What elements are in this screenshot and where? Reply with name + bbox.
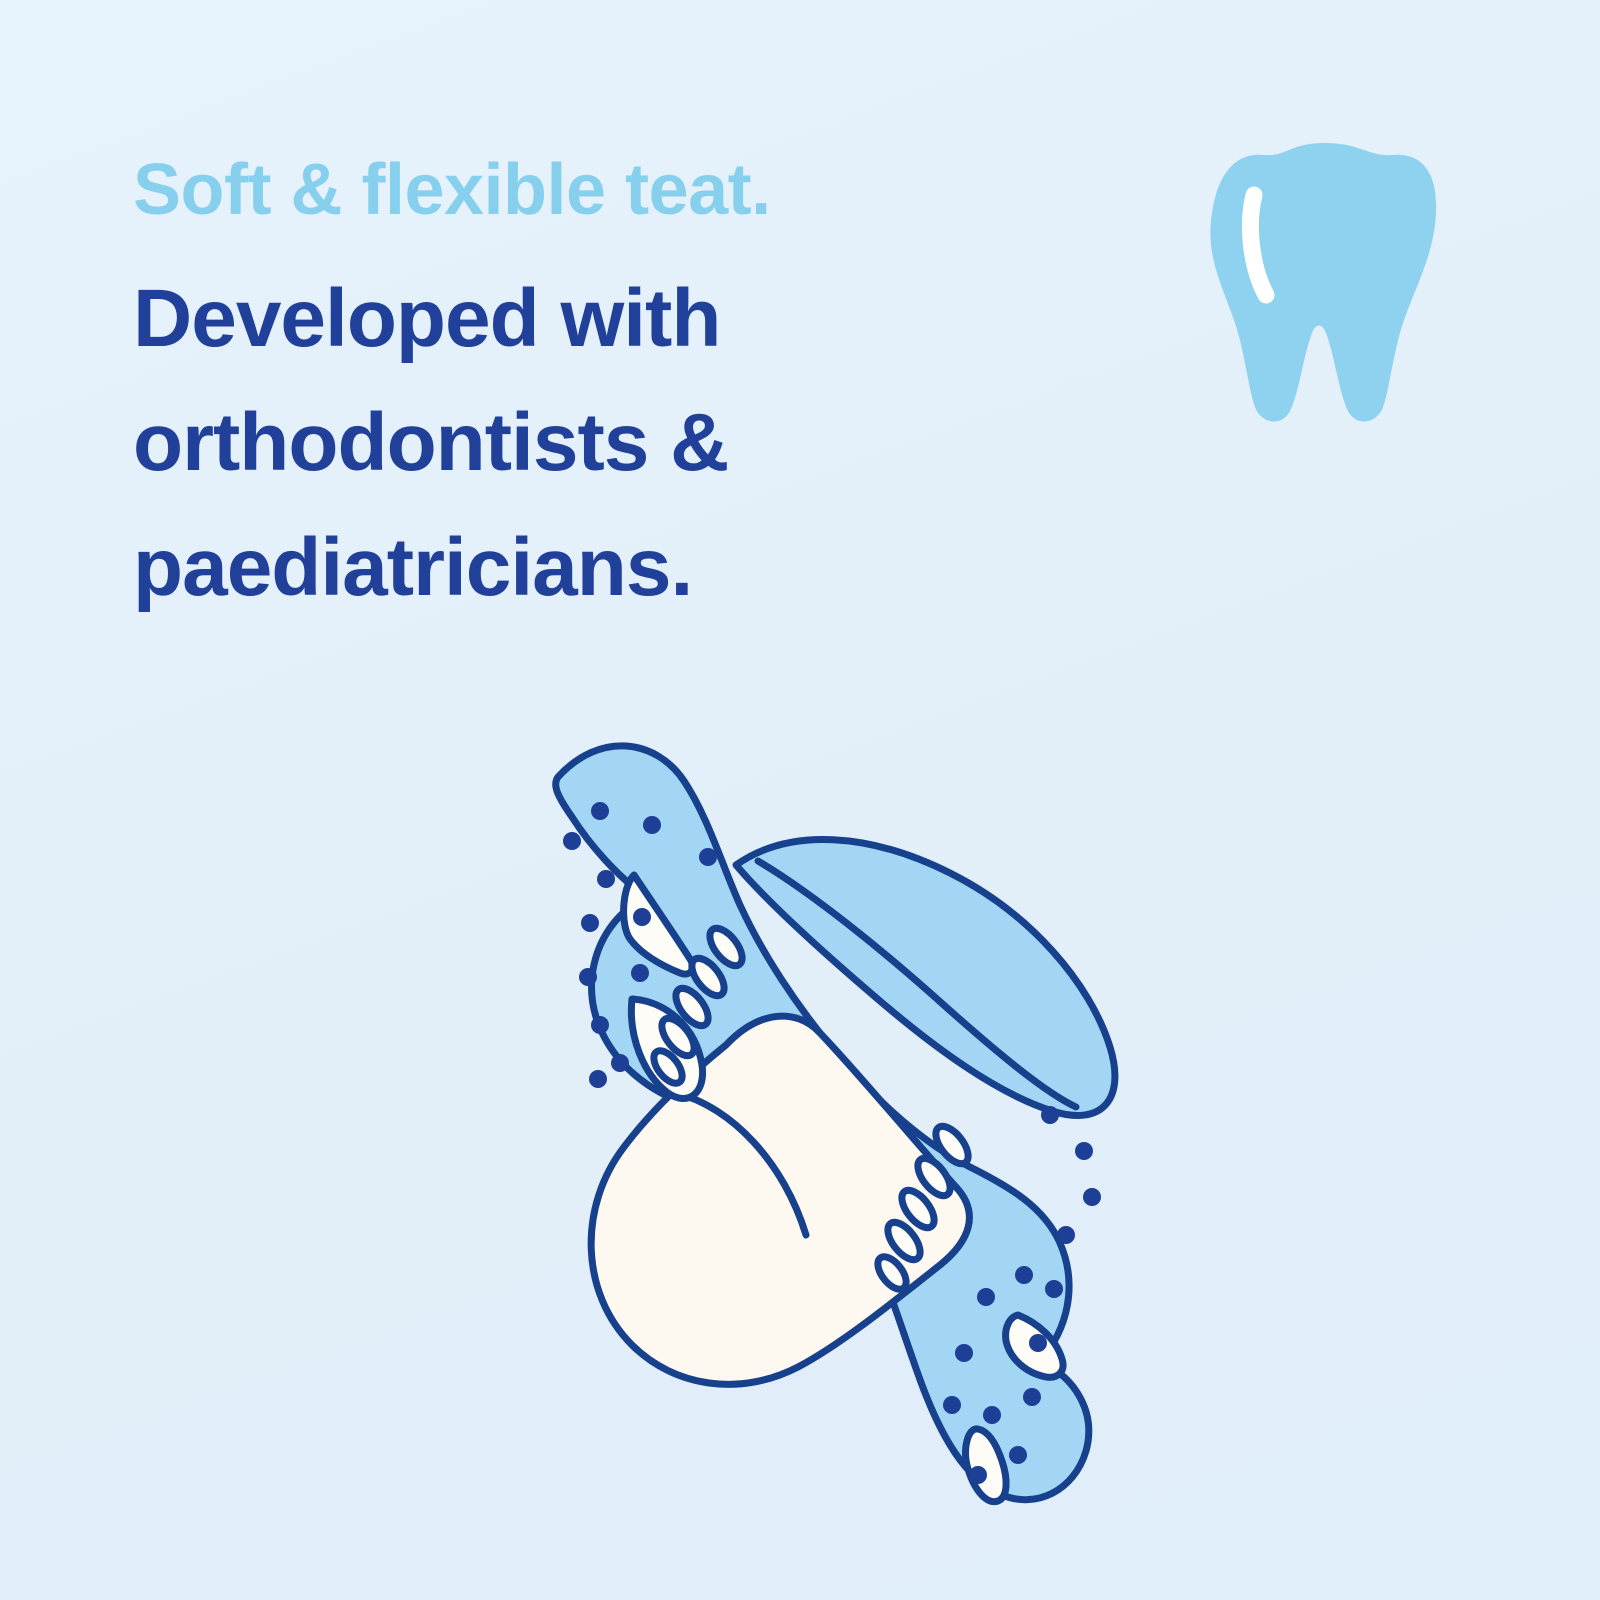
pacifier-illustration [440, 715, 1160, 1515]
headline-line-3: paediatricians. [133, 506, 1133, 631]
tooth-icon [1210, 135, 1440, 430]
copy-block: Soft & flexible teat. Developed with ort… [133, 150, 1133, 631]
pacifier-svg [440, 715, 1160, 1515]
tooth-body-shape [1210, 143, 1436, 422]
tooth-badge [1210, 135, 1440, 430]
page-title: Developed with orthodontists & paediatri… [133, 257, 1133, 631]
headline-line-2: orthodontists & [133, 381, 1133, 506]
headline-line-1: Developed with [133, 257, 1133, 382]
promo-card: Soft & flexible teat. Developed with ort… [0, 0, 1600, 1600]
eyebrow-text: Soft & flexible teat. [133, 150, 1133, 231]
